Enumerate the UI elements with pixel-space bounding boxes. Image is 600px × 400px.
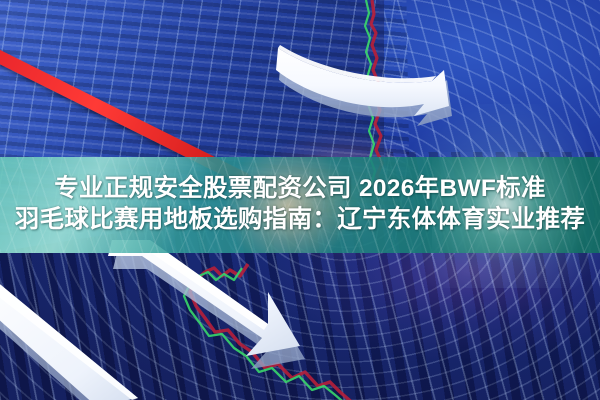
headline-banner: 专业正规安全股票配资公司 2026年BWF标准 羽毛球比赛用地板选购指南：辽宁东… [0, 157, 600, 253]
headline-text-block: 专业正规安全股票配资公司 2026年BWF标准 羽毛球比赛用地板选购指南：辽宁东… [0, 157, 600, 253]
curved-right-arrow [276, 45, 452, 126]
diagonal-arrow-band [0, 276, 142, 400]
headline-line-1: 专业正规安全股票配资公司 2026年BWF标准 [54, 175, 546, 204]
promo-image: 专业正规安全股票配资公司 2026年BWF标准 羽毛球比赛用地板选购指南：辽宁东… [0, 0, 600, 400]
down-right-arrow [108, 240, 305, 369]
headline-line-2: 羽毛球比赛用地板选购指南：辽宁东体体育实业推荐 [15, 206, 585, 235]
